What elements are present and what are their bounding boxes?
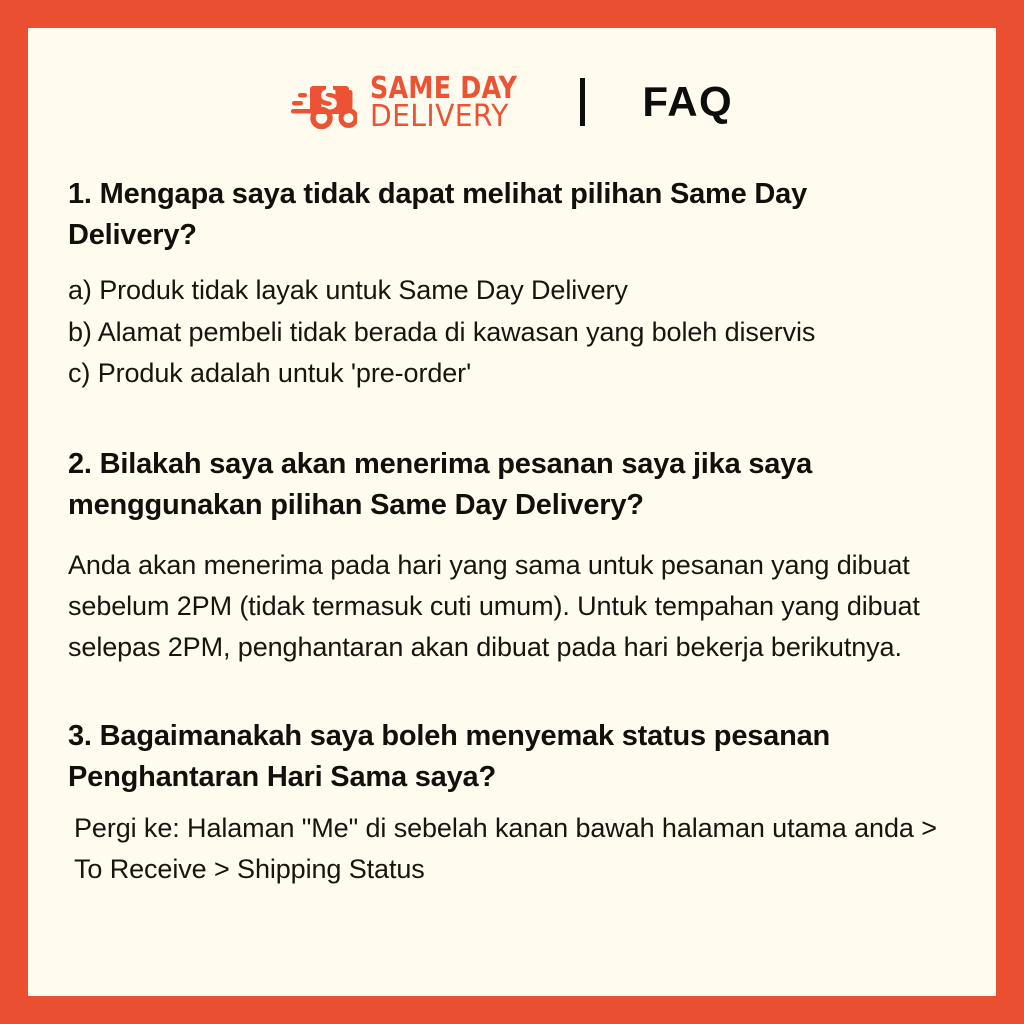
faq-answer-options-1: a) Produk tidak layak untuk Same Day Del… (68, 270, 960, 394)
page-title: FAQ (642, 78, 733, 126)
faq-question-1: 1. Mengapa saya tidak dapat melihat pili… (68, 174, 918, 256)
faq-question-2: 2. Bilakah saya akan menerima pesanan sa… (68, 444, 918, 526)
faq-option-a: a) Produk tidak layak untuk Same Day Del… (68, 270, 960, 311)
brand-line-2: DELIVERY (370, 103, 517, 131)
brand-logo: S SAME DAY DELIVERY (291, 74, 527, 131)
delivery-scooter-icon: S (291, 75, 357, 129)
header: S SAME DAY DELIVERY FAQ (28, 66, 996, 138)
faq-item-3: 3. Bagaimanakah saya boleh menyemak stat… (68, 716, 960, 890)
faq-answer-3: Pergi ke: Halaman "Me" di sebelah kanan … (74, 808, 960, 890)
header-divider (580, 78, 585, 126)
faq-option-b: b) Alamat pembeli tidak berada di kawasa… (68, 312, 960, 353)
faq-item-2: 2. Bilakah saya akan menerima pesanan sa… (68, 444, 960, 667)
faq-answer-2: Anda akan menerima pada hari yang sama u… (68, 545, 948, 668)
faq-card: S SAME DAY DELIVERY FAQ 1. Mengapa saya … (28, 28, 996, 996)
faq-question-3: 3. Bagaimanakah saya boleh menyemak stat… (68, 716, 918, 798)
faq-list: 1. Mengapa saya tidak dapat melihat pili… (68, 174, 960, 890)
brand-wordmark: SAME DAY DELIVERY (370, 75, 527, 131)
faq-item-1: 1. Mengapa saya tidak dapat melihat pili… (68, 174, 960, 394)
faq-option-c: c) Produk adalah untuk 'pre-order' (68, 353, 960, 394)
